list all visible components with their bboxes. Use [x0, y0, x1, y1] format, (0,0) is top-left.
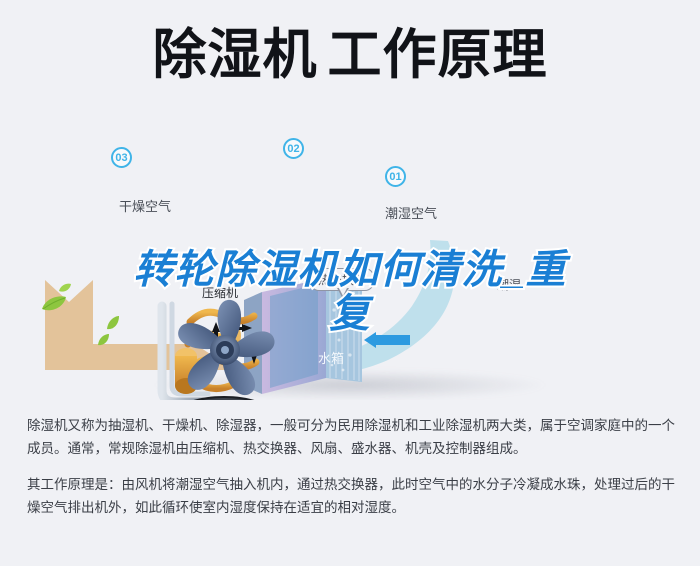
page-title-part1: 除湿机: [153, 25, 318, 85]
callout-badge-02: 02: [283, 138, 304, 159]
callout-badge-01: 01: [385, 166, 406, 187]
callout-badge-02-text: 02: [287, 143, 299, 155]
leaf-icon-1: [40, 295, 68, 318]
article-body: 除湿机又称为抽湿机、干燥机、除湿器，一般可分为民用除湿机和工业除湿机两大类，属于…: [27, 415, 675, 519]
page-root: 除湿机工作原理: [0, 0, 700, 566]
part-label-compressor: 压缩机: [202, 284, 238, 301]
callout-badge-01-text: 01: [389, 171, 401, 183]
article-paragraph-2: 其工作原理是：由风机将潮湿空气抽入机内，通过热交换器，此时空气中的水分子冷凝成水…: [27, 474, 675, 519]
article-paragraph-1: 除湿机又称为抽湿机、干燥机、除湿器，一般可分为民用除湿机和工业除湿机两大类，属于…: [27, 415, 675, 460]
callout-badge-03: 03: [111, 147, 132, 168]
fan-icon: [168, 292, 283, 400]
leaf-icon-2: [58, 280, 72, 298]
callout-badge-03-text: 03: [115, 152, 127, 164]
dehumidifier-diagram: 03 干燥空气 02 热交换器 01 潮湿空气 压缩机 水箱 潮湿 02 潮湿空…: [0, 120, 700, 400]
callout-label-dry-air: 干燥空气: [119, 196, 171, 215]
page-title: 除湿机工作原理: [0, 22, 700, 88]
page-title-part2: 工作原理: [328, 25, 548, 85]
callout-label-humid-air: 潮湿空气: [385, 203, 437, 222]
leaf-icon-4: [97, 333, 111, 352]
part-label-water-tank: 水箱: [318, 348, 344, 367]
part-label-humid-partial: 潮湿: [497, 276, 521, 293]
callout-bubble-tail: [337, 288, 349, 299]
